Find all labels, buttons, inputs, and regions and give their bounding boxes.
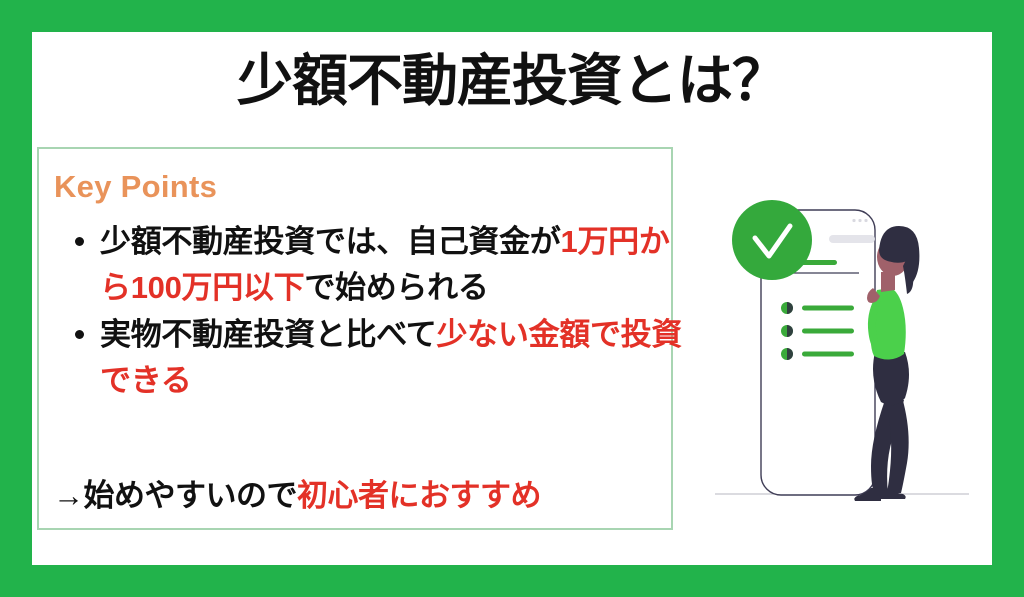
- phone-gray-bar: [829, 235, 875, 243]
- checklist-phone-illustration: [697, 172, 987, 517]
- key-points-list: 少額不動産投資では、自己資金が1万円から100万円以下で始められる 実物不動産投…: [62, 219, 700, 405]
- key-points-heading: Key Points: [54, 169, 217, 205]
- bullet-1-segment-1: 少額不動産投資では、自己資金が: [100, 224, 561, 259]
- slide-frame: 少額不動産投資とは？ Key Points 少額不動産投資では、自己資金が1万円…: [0, 0, 1024, 597]
- conclusion-segment-1: 始めやすいので: [84, 478, 298, 513]
- page-title: 少額不動産投資とは？: [32, 50, 992, 112]
- list-item: 少額不動産投資では、自己資金が1万円から100万円以下で始められる: [100, 219, 700, 310]
- bullet-1-segment-3: で始められる: [304, 270, 488, 305]
- key-points-box: Key Points 少額不動産投資では、自己資金が1万円から100万円以下で始…: [37, 147, 673, 530]
- check-badge-icon: [732, 200, 812, 280]
- conclusion-line: →始めやすいので初心者におすすめ: [53, 476, 671, 516]
- arrow-glyph: →: [53, 478, 84, 513]
- phone-status-dot: [858, 219, 861, 222]
- slide-canvas: 少額不動産投資とは？ Key Points 少額不動産投資では、自己資金が1万円…: [32, 32, 992, 565]
- phone-status-dot: [864, 219, 867, 222]
- bullet-2-segment-1: 実物不動産投資と比べて: [100, 317, 436, 352]
- conclusion-segment-2-highlight: 初心者におすすめ: [297, 478, 541, 513]
- list-item: 実物不動産投資と比べて少ない金額で投資できる: [100, 312, 700, 403]
- phone-status-dot: [852, 219, 855, 222]
